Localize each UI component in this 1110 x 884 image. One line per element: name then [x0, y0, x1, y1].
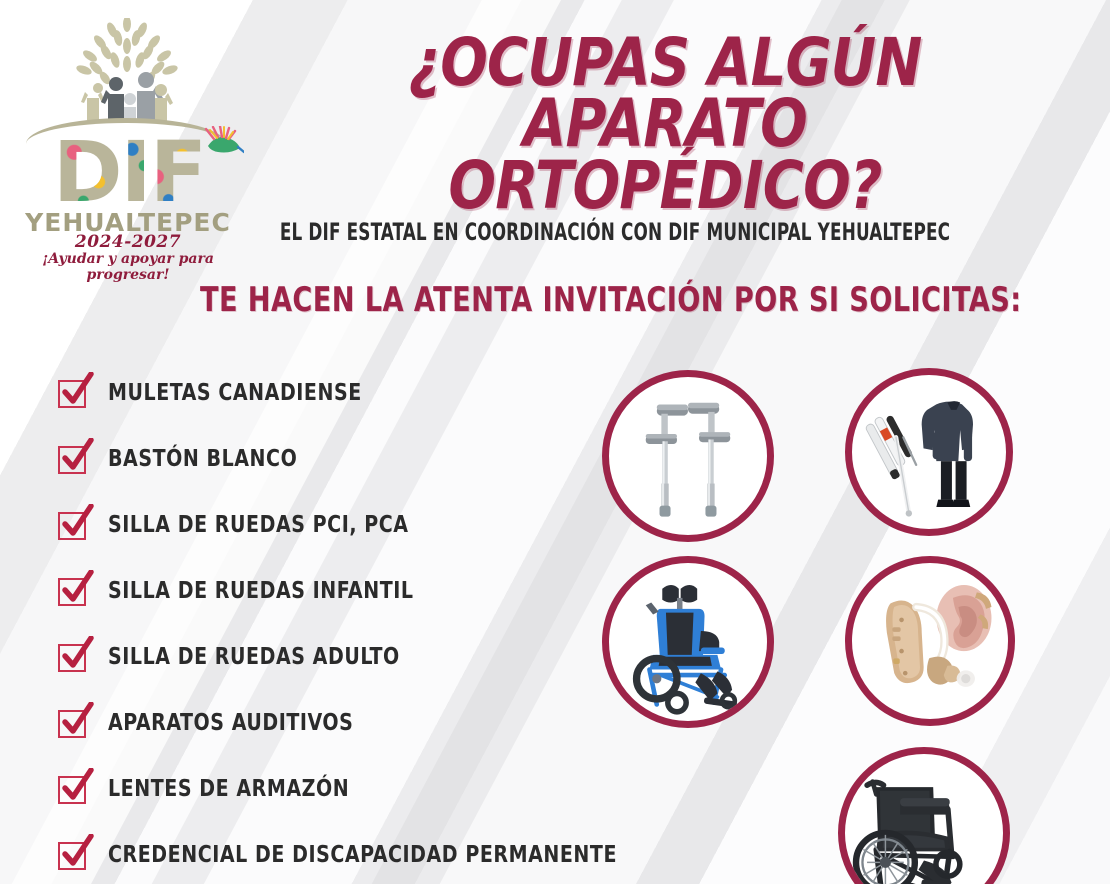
list-item[interactable]: CREDENCIAL DE DISCAPACIDAD PERMANENTE [58, 840, 618, 884]
list-item[interactable]: LENTES DE ARMAZÓN [58, 774, 618, 840]
checkbox-checked-icon[interactable] [58, 578, 88, 608]
poster-subline: EL DIF ESTATAL EN COORDINACIÓN CON DIF M… [252, 218, 977, 246]
list-item[interactable]: SILLA DE RUEDAS PCI, PCA [58, 510, 618, 576]
list-item[interactable]: SILLA DE RUEDAS ADULTO [58, 642, 618, 708]
checkbox-checked-icon[interactable] [58, 776, 88, 806]
list-item-label: BASTÓN BLANCO [108, 446, 297, 472]
photo-hearing-aid [845, 556, 1015, 726]
list-item[interactable]: APARATOS AUDITIVOS [58, 708, 618, 774]
photo-adult-wheelchair [838, 747, 1010, 884]
list-item-label: MULETAS CANADIENSE [108, 380, 362, 406]
photo-forearm-crutches [602, 370, 774, 542]
poster-headline: ¿OCUPAS ALGÚN APARATO ORTOPÉDICO? [304, 32, 1027, 216]
poster-invitation-line: TE HACEN LA ATENTA INVITACIÓN POR SI SOL… [200, 280, 1000, 320]
photo-pediatric-wheelchair [602, 556, 774, 728]
checkbox-checked-icon[interactable] [58, 842, 88, 872]
list-item-label: SILLA DE RUEDAS PCI, PCA [108, 512, 409, 538]
list-item-label: SILLA DE RUEDAS INFANTIL [108, 578, 414, 604]
list-item[interactable]: SILLA DE RUEDAS INFANTIL [58, 576, 618, 642]
logo-slogan: ¡Ayudar y apoyar para progresar! [18, 251, 238, 283]
list-item-label: LENTES DE ARMAZÓN [108, 776, 349, 802]
checkbox-checked-icon[interactable] [58, 446, 88, 476]
checkbox-checked-icon[interactable] [58, 710, 88, 740]
list-item[interactable]: MULETAS CANADIENSE [58, 378, 618, 444]
checkbox-checked-icon[interactable] [58, 380, 88, 410]
list-item-label: SILLA DE RUEDAS ADULTO [108, 644, 400, 670]
list-item-label: APARATOS AUDITIVOS [108, 710, 353, 736]
list-item-label: CREDENCIAL DE DISCAPACIDAD PERMANENTE [108, 842, 617, 868]
checkbox-checked-icon[interactable] [58, 512, 88, 542]
family-tree-icon [60, 18, 195, 123]
logo-term-years: 2024-2027 [18, 232, 238, 252]
dif-logo: DIF YEHUALTEPEC 2024-2027 ¡Ayudar y apoy… [18, 18, 238, 263]
photo-white-cane [845, 368, 1013, 536]
hummingbird-icon [204, 126, 244, 160]
dif-letters-text: DIF [53, 136, 205, 210]
list-item[interactable]: BASTÓN BLANCO [58, 444, 618, 510]
equipment-checklist: MULETAS CANADIENSE BASTÓN BLANCO SILLA D… [58, 378, 618, 884]
poster-canvas: DIF YEHUALTEPEC 2024-2027 ¡Ayudar y apoy… [0, 0, 1110, 884]
dif-letters: DIF [44, 128, 214, 210]
checkbox-checked-icon[interactable] [58, 644, 88, 674]
